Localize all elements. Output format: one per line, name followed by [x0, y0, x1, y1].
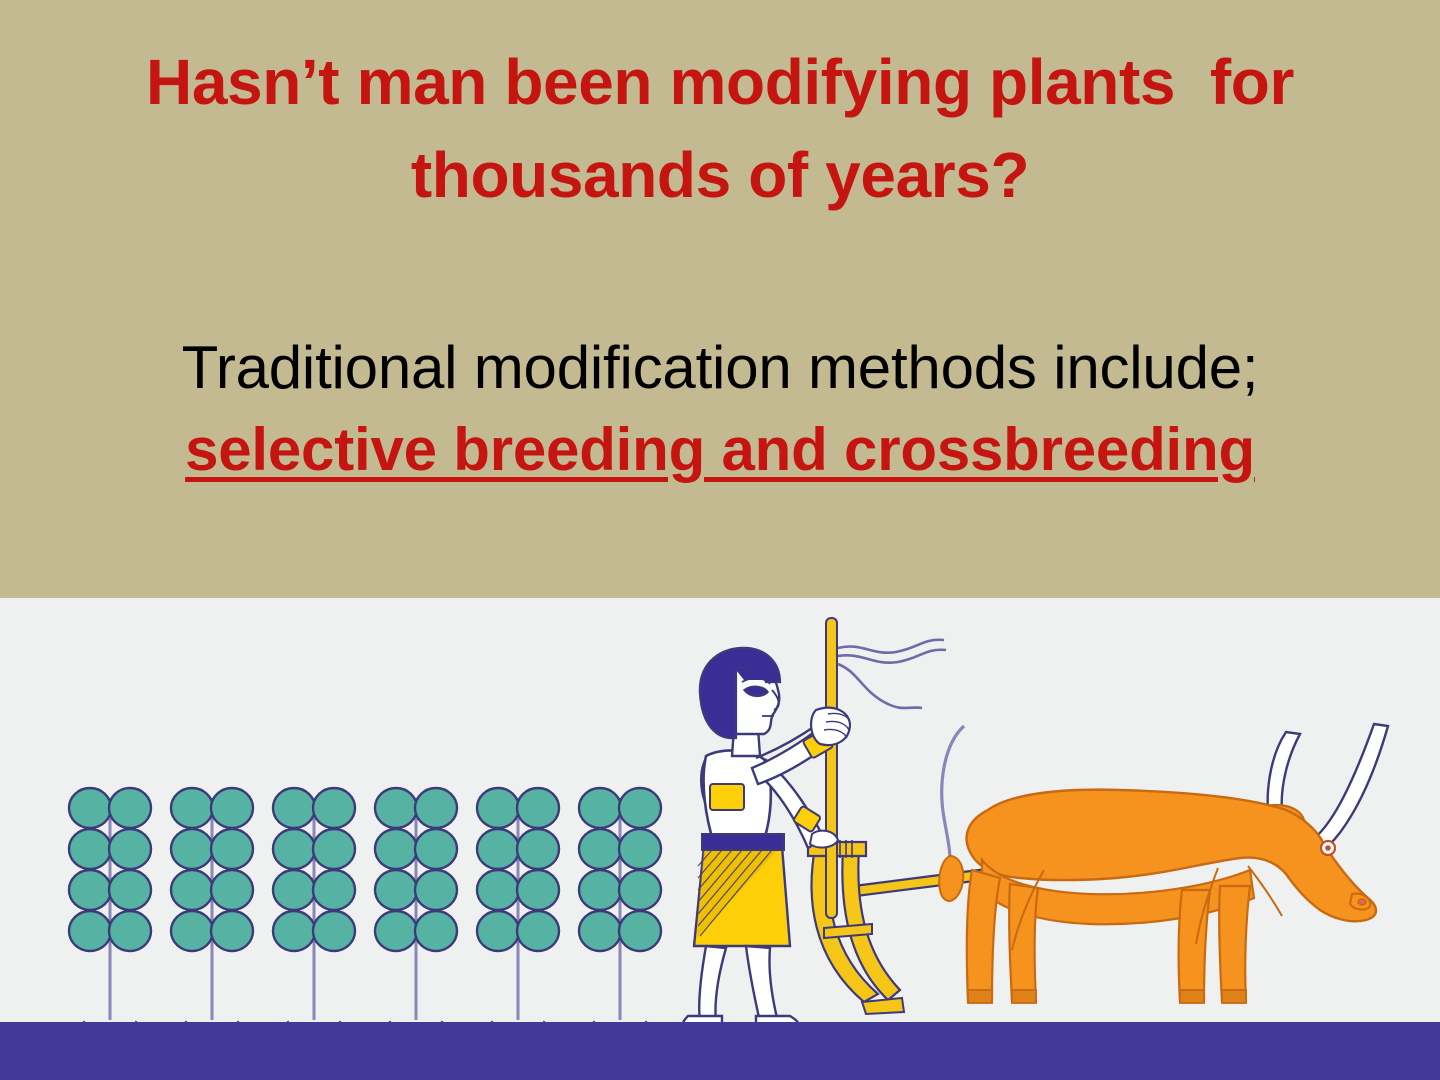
slide: Hasn’t man been modifying plants for tho… — [0, 0, 1440, 1080]
bottom-bar — [0, 1032, 1440, 1080]
armband — [710, 784, 744, 810]
body-text-block: Traditional modification methods include… — [40, 327, 1400, 490]
front-leg — [746, 946, 778, 1022]
rear-leg — [699, 946, 726, 1022]
grain-plant — [144, 788, 280, 1032]
grain-plant — [450, 788, 586, 1032]
tail-tuft — [939, 856, 963, 901]
waistband — [702, 834, 784, 850]
grain-plant — [42, 788, 178, 1032]
text-area: Hasn’t man been modifying plants for tho… — [0, 0, 1440, 598]
grain-plant-row — [42, 788, 688, 1032]
ox — [939, 724, 1388, 1003]
body-line-emphasis: selective breeding and crossbreeding — [185, 409, 1255, 491]
egyptian-farming-illustration — [0, 598, 1440, 1032]
ox-front-leg-near — [1219, 886, 1250, 1002]
grain-plant — [348, 788, 484, 1032]
body-line-plain: Traditional modification methods include… — [40, 327, 1400, 409]
ground-line — [0, 1022, 1440, 1032]
grain-plant — [246, 788, 382, 1032]
page-title: Hasn’t man been modifying plants for tho… — [70, 36, 1370, 222]
egyptian-farmer — [683, 618, 946, 1030]
tail — [942, 726, 964, 860]
nostril — [1358, 899, 1366, 905]
illustration-panel — [0, 598, 1440, 1032]
ox-rear-leg-far — [967, 870, 1000, 1002]
staff — [826, 618, 837, 918]
grain-plant — [552, 788, 688, 1032]
banner — [838, 640, 946, 708]
